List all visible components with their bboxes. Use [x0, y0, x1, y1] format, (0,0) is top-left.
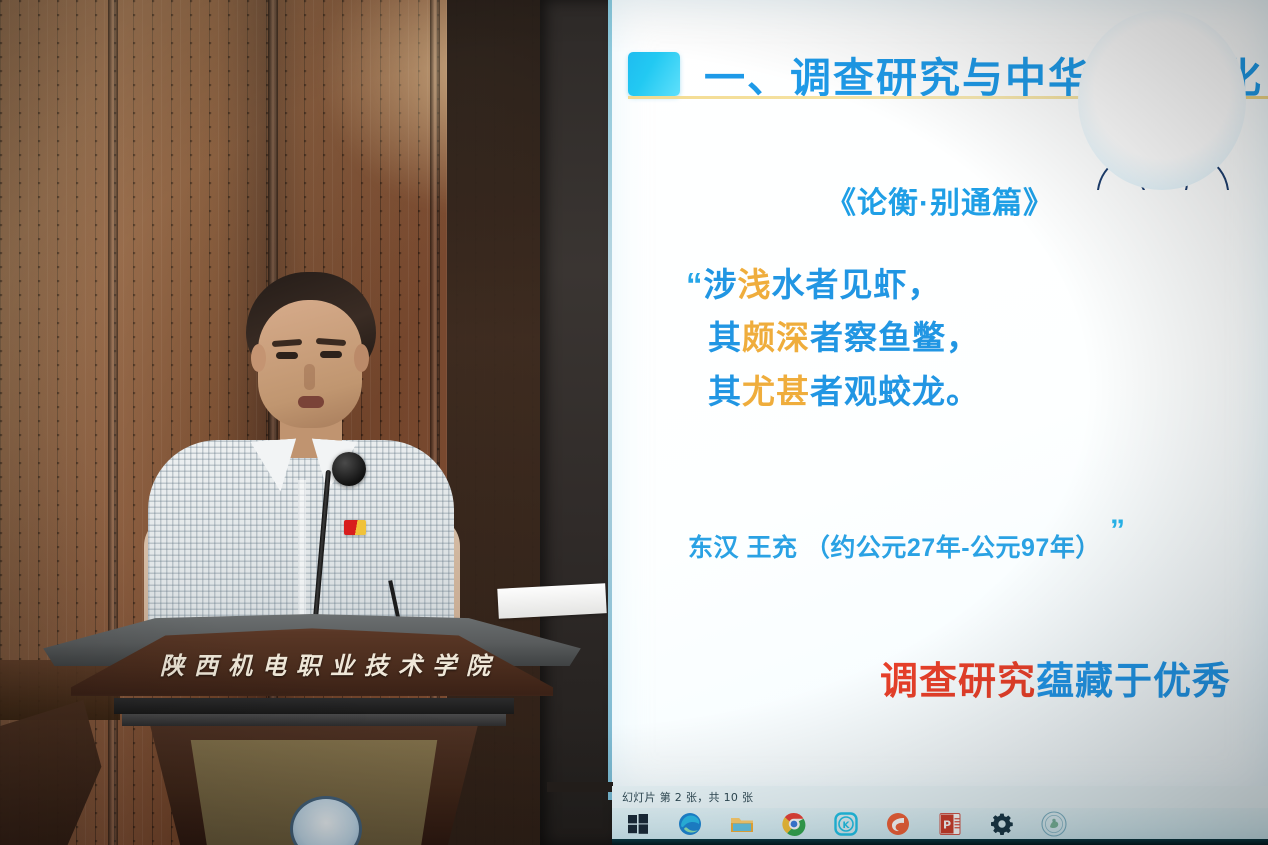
quote-close-mark: ” [1110, 507, 1126, 556]
quote-seg: 涉 [704, 266, 738, 303]
powerpoint-slide: 一、调查研究与中华传统文化 《论衡·别通篇》 [612, 0, 1268, 800]
presenter [148, 272, 454, 632]
microphone-icon [332, 452, 366, 486]
podium-trim-band [114, 698, 514, 714]
windows-start-icon[interactable] [612, 808, 664, 840]
chrome-icon[interactable] [768, 808, 820, 840]
podium-trim-band [122, 714, 506, 726]
title-bullet-marker-icon [628, 52, 680, 96]
svg-text:P: P [943, 819, 951, 832]
quote-seg: 者观蛟龙。 [810, 373, 980, 410]
gear-icon[interactable] [976, 808, 1028, 840]
quote-seg-highlight: 颇深 [742, 319, 810, 356]
slide-counter-text: 幻灯片 第 2 张，共 10 张 [612, 789, 753, 805]
quote-block: “涉浅水者见虾， 其颇深者察鱼鳖， 其尤甚者观蛟龙。 ” [686, 258, 1086, 418]
status-bar-left-cover [547, 782, 613, 792]
podium: 陕西机电职业技术学院 [32, 614, 592, 845]
quote-seg-highlight: 浅 [738, 266, 772, 303]
statement-red-text: 调查研究 [880, 661, 1036, 703]
svg-text:K: K [843, 821, 851, 831]
quote-attribution: 东汉 王充 （约公元27年-公元97年） [688, 528, 1101, 564]
party-emblem-pin-icon [344, 520, 366, 535]
quote-seg: 者察鱼鳖， [810, 319, 980, 356]
kingsoft-icon[interactable]: K [820, 808, 872, 840]
quote-seg-highlight: 尤甚 [742, 373, 810, 410]
taskbar-bottom-edge [612, 839, 1268, 845]
quote-open-mark: “ [686, 266, 704, 303]
quote-line: “涉浅水者见虾， [686, 258, 1086, 311]
file-explorer-icon[interactable] [716, 808, 768, 840]
quote-seg: 其 [708, 319, 742, 356]
school-emblem-icon[interactable] [1028, 808, 1080, 840]
quote-seg: 其 [708, 373, 742, 410]
presenter-nose [304, 364, 315, 390]
projection-screen: 一、调查研究与中华传统文化 《论衡·别通篇》 [612, 0, 1268, 800]
quote-seg: 水者见虾， [772, 266, 942, 303]
slide-statement: 调查研究蕴藏于优秀 [880, 650, 1231, 705]
powerpoint-status-bar: 幻灯片 第 2 张，共 10 张 [612, 786, 1268, 808]
presenter-eye [320, 351, 342, 358]
edge-icon[interactable] [664, 808, 716, 840]
presenter-ear [354, 344, 369, 372]
statement-blue-text: 蕴藏于优秀 [1036, 661, 1231, 703]
wang-chong-portrait [1078, 10, 1246, 190]
screenshot-root: 陕西机电职业技术学院 一、调查研究与中华传统文化 《论衡·别通篇》 [0, 0, 1268, 845]
powerpoint-icon[interactable]: P [924, 808, 976, 840]
windows-taskbar[interactable]: K P [612, 808, 1268, 840]
presenter-ear [251, 344, 266, 372]
presenter-eye [276, 352, 298, 359]
flame-icon[interactable] [872, 808, 924, 840]
quote-line: 其颇深者察鱼鳖， [686, 311, 1086, 364]
presenter-mouth [298, 396, 324, 408]
quote-line: 其尤甚者观蛟龙。 ” [686, 365, 1086, 418]
portrait-halo [1078, 10, 1246, 190]
